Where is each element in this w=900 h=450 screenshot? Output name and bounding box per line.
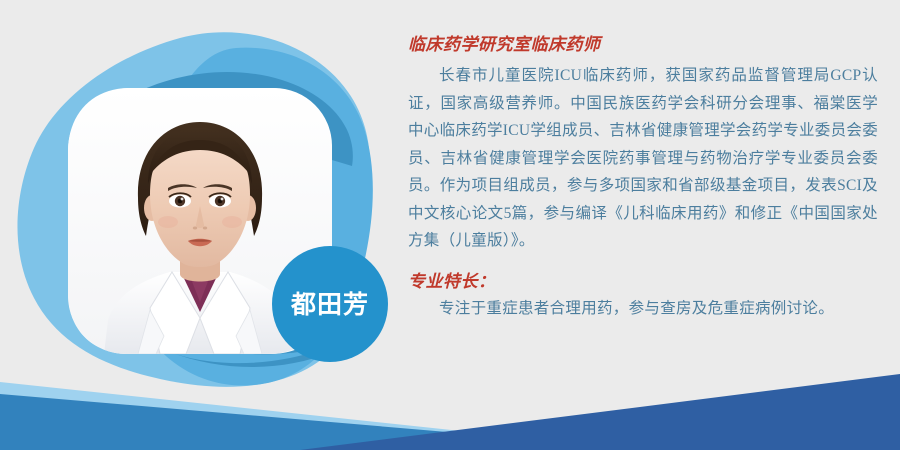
specialty-paragraph: 专注于重症患者合理用药，参与查房及危重症病例讨论。 xyxy=(408,295,878,323)
doctor-name: 都田芳 xyxy=(291,292,369,317)
portrait-panel: 都田芳 xyxy=(0,0,400,400)
bottom-banner xyxy=(0,370,900,450)
name-badge: 都田芳 xyxy=(272,246,388,362)
profile-text-column: 临床药学研究室临床药师 长春市儿童医院ICU临床药师，获国家药品监督管理局GCP… xyxy=(408,34,878,322)
job-title-heading: 临床药学研究室临床药师 xyxy=(408,34,878,56)
specialty-section: 专业特长： 专注于重症患者合理用药，参与查房及危重症病例讨论。 xyxy=(408,271,878,323)
doctor-profile-card: 都田芳 临床药学研究室临床药师 长春市儿童医院ICU临床药师，获国家药品监督管理… xyxy=(0,0,900,450)
banner-diagonal-shapes xyxy=(0,370,900,450)
biography-paragraph: 长春市儿童医院ICU临床药师，获国家药品监督管理局GCP认证，国家高级营养师。中… xyxy=(408,62,878,255)
banner-navy-triangle xyxy=(300,374,900,450)
specialty-heading: 专业特长： xyxy=(408,271,878,293)
